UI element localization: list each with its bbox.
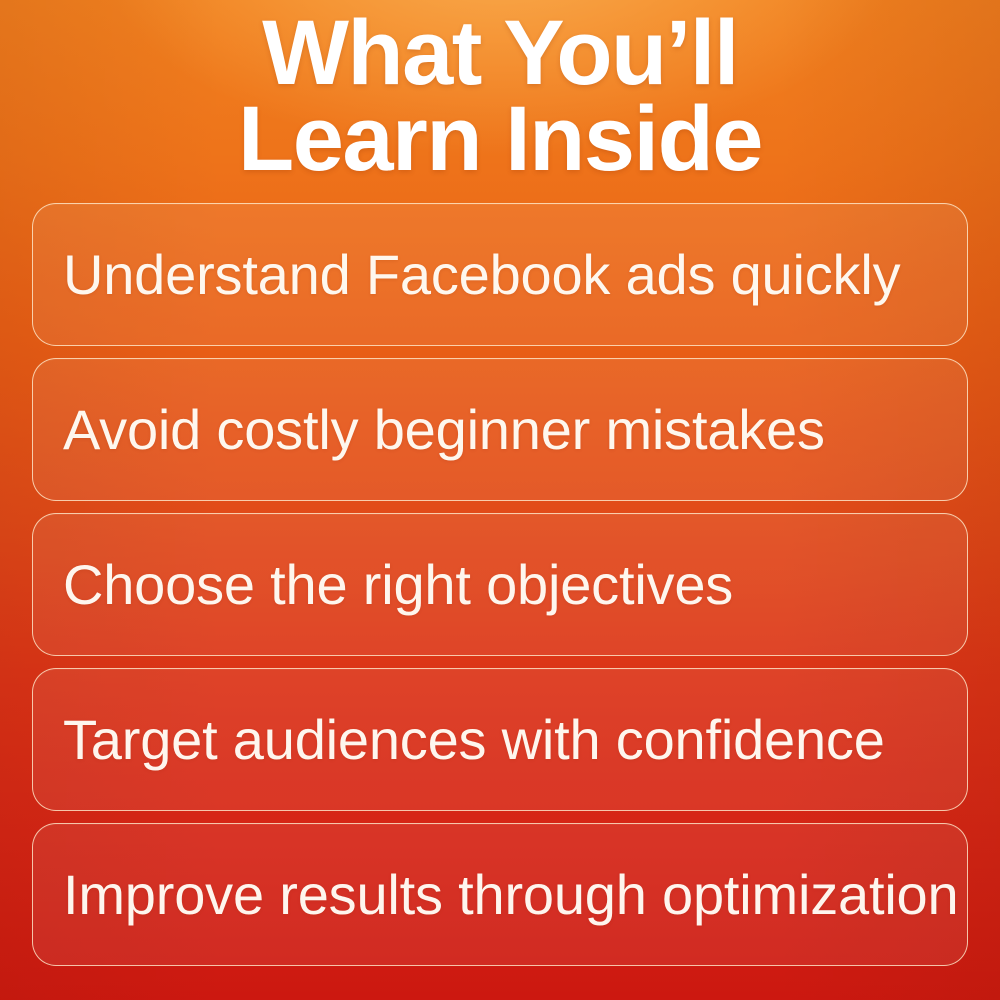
benefit-card-label: Improve results through optimization (63, 865, 958, 925)
benefit-card-label: Understand Facebook ads quickly (63, 245, 900, 305)
benefit-card-4[interactable]: Target audiences with confidence (32, 668, 968, 811)
page-title: What You’ll Learn Inside (0, 10, 1000, 182)
benefit-card-label: Target audiences with confidence (63, 710, 885, 770)
benefit-card-label: Choose the right objectives (63, 555, 733, 615)
page-title-line-2: Learn Inside (0, 96, 1000, 182)
benefit-card-1[interactable]: Understand Facebook ads quickly (32, 203, 968, 346)
benefit-card-2[interactable]: Avoid costly beginner mistakes (32, 358, 968, 501)
benefit-card-3[interactable]: Choose the right objectives (32, 513, 968, 656)
benefit-card-label: Avoid costly beginner mistakes (63, 400, 825, 460)
benefit-card-5[interactable]: Improve results through optimization (32, 823, 968, 966)
page-title-line-1: What You’ll (0, 10, 1000, 96)
benefit-card-list: Understand Facebook ads quickly Avoid co… (32, 203, 968, 966)
promo-poster: What You’ll Learn Inside Understand Face… (0, 0, 1000, 1000)
